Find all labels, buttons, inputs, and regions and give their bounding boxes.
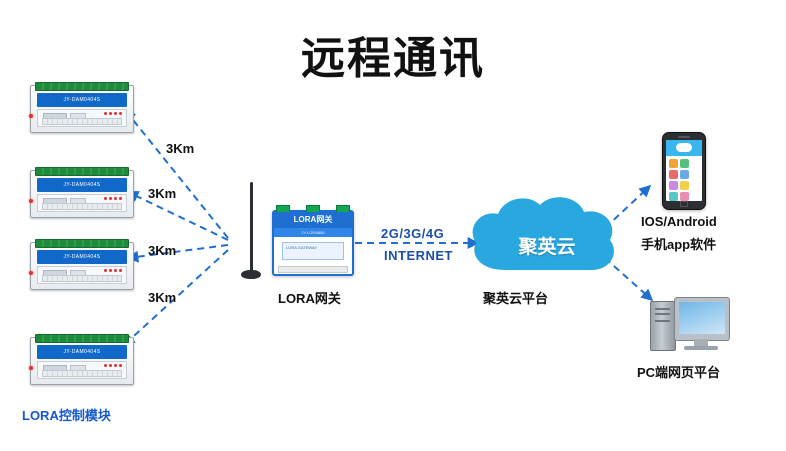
distance-label-1: 3Km [166,141,194,156]
module-terminal-block [35,167,129,176]
lora-module-3[interactable]: JY-DAM0404S [30,242,134,290]
gateway-title-bar: LORA网关 [274,212,352,228]
phone-speaker [678,136,690,138]
mobile-phone[interactable] [662,132,706,210]
phone-app-grid [666,156,702,201]
pc-tower [650,301,676,351]
phone-label-line2: 手机app软件 [641,234,716,253]
module-body [37,194,127,212]
lora-modules-label: LORA控制模块 [22,405,111,424]
pc-monitor-stand [694,339,708,346]
pc-monitor-base [684,346,718,350]
lora-module-4[interactable]: JY-DAM0404S [30,337,134,385]
module-leds [104,269,122,272]
module-screw-terminal [42,370,122,377]
module-brand-strip: JY-DAM0404S [37,345,127,359]
cloud-platform-label: 聚英云平台 [483,288,548,307]
page-title: 远程通讯 [0,22,786,86]
lora-gateway-device[interactable]: LORA网关 JY-LORA888 LORA GATEWAY [272,210,354,276]
module-terminal-block [35,239,129,248]
module-screw-terminal [42,203,122,210]
pc-label: PC端网页平台 [637,362,720,381]
module-side-led [29,366,33,370]
module-side-led [29,114,33,118]
module-body [37,361,127,379]
module-body [37,109,127,127]
phone-label-line1: IOS/Android [641,214,717,229]
antenna-rod [250,182,253,274]
module-terminal-block [35,334,129,343]
cloud-name: 聚英云 [487,232,607,259]
pc-monitor [674,297,730,341]
lora-module-2[interactable]: JY-DAM0404S [30,170,134,218]
module-leds [104,364,122,367]
phone-app-header [666,140,702,156]
distance-label-2: 3Km [148,186,176,201]
antenna-base [241,270,261,279]
gateway-model-bar: JY-LORA888 [274,228,352,237]
pc-screen [679,302,725,334]
module-side-led [29,271,33,275]
module-brand-strip: JY-DAM0404S [37,93,127,107]
network-label-line1: 2G/3G/4G [381,226,444,241]
module-leds [104,197,122,200]
phone-screen [666,140,702,201]
lora-module-1[interactable]: JY-DAM0404S [30,85,134,133]
diagram-canvas: 远程通讯 [0,0,786,451]
gateway-terminal [278,266,348,273]
pc-workstation[interactable] [650,297,730,353]
distance-label-4: 3Km [148,290,176,305]
module-side-led [29,199,33,203]
module-screw-terminal [42,118,122,125]
module-brand-strip: JY-DAM0404S [37,178,127,192]
module-screw-terminal [42,275,122,282]
module-brand-strip: JY-DAM0404S [37,250,127,264]
module-leds [104,112,122,115]
network-label-line2: INTERNET [384,248,453,263]
gateway-label: LORA网关 [278,288,341,307]
distance-label-3: 3Km [148,243,176,258]
gateway-screen: LORA GATEWAY [282,242,344,260]
cloud-icon [676,143,692,152]
module-body [37,266,127,284]
phone-home-button[interactable] [680,201,688,207]
module-terminal-block [35,82,129,91]
